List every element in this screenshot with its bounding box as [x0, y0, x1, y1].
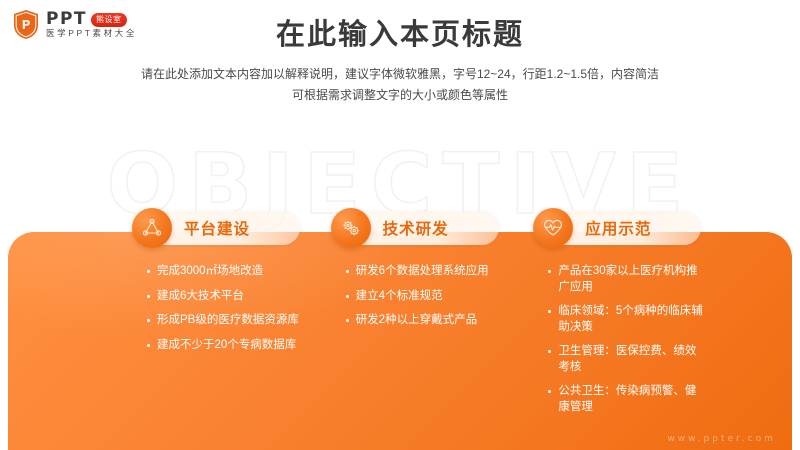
column-platform-construction: 平台建设 完成3000㎡场地改造 建成6大技术平台 形成PB级的医疗数据资源库 … — [0, 211, 267, 450]
page-title: 在此输入本页标题 — [0, 18, 800, 53]
triangle-network-icon — [132, 208, 172, 248]
list-item: 研发2种以上穿戴式产品 — [345, 313, 502, 329]
gears-icon — [331, 208, 371, 248]
column-header-technology-rnd[interactable]: 技术研发 — [345, 211, 499, 245]
list-item: 建立4个标准规范 — [345, 289, 502, 305]
objective-columns: 平台建设 完成3000㎡场地改造 建成6大技术平台 形成PB级的医疗数据资源库 … — [0, 211, 800, 450]
list-item: 临床领域：5个病种的临床辅助决策 — [547, 304, 704, 335]
column-header-application-demo[interactable]: 应用示范 — [547, 211, 701, 245]
slide-canvas: P PPT 熊设室 医学PPT素材大全 在此输入本页标题 请在此处添加文本内容加… — [0, 0, 800, 450]
heart-pulse-icon — [533, 208, 573, 248]
column-label: 应用示范 — [585, 217, 651, 239]
list-item: 公共卫生：传染病预警、健康管理 — [547, 384, 704, 415]
column-technology-rnd: 技术研发 研发6个数据处理系统应用 建立4个标准规范 研发2种以上穿戴式产品 — [267, 211, 534, 450]
list-item: 研发6个数据处理系统应用 — [345, 264, 502, 280]
bullet-list-application-demo: 产品在30家以上医疗机构推广应用 临床领域：5个病种的临床辅助决策 卫生管理：医… — [547, 264, 800, 415]
list-item: 卫生管理：医保控费、绩效考核 — [547, 344, 704, 375]
subtitle-line-2: 可根据需求调整文字的大小或颜色等属性 — [0, 85, 800, 106]
subtitle-line-1: 请在此处添加文本内容加以解释说明，建议字体微软雅黑，字号12~24，行距1.2~… — [0, 64, 800, 85]
column-label: 技术研发 — [383, 217, 449, 239]
column-application-demo: 应用示范 产品在30家以上医疗机构推广应用 临床领域：5个病种的临床辅助决策 卫… — [533, 211, 800, 450]
page-subtitle: 请在此处添加文本内容加以解释说明，建议字体微软雅黑，字号12~24，行距1.2~… — [0, 64, 800, 106]
column-label: 平台建设 — [184, 217, 250, 239]
list-item: 产品在30家以上医疗机构推广应用 — [547, 264, 704, 295]
